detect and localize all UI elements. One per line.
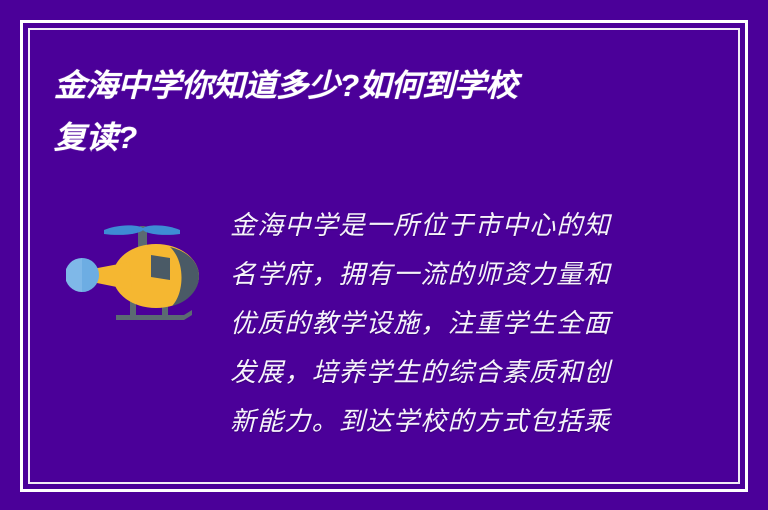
helicopter-icon (66, 214, 214, 326)
body-line-2: 名学府，拥有一流的师资力量和 (230, 251, 714, 300)
body-line-1: 金海中学是一所位于市中心的知 (230, 202, 714, 251)
body-paragraph: 金海中学是一所位于市中心的知 名学府，拥有一流的师资力量和 优质的教学设施，注重… (226, 200, 714, 447)
poster-card: 金海中学你知道多少?如何到学校 复读? (0, 0, 768, 510)
body-line-3: 优质的教学设施，注重学生全面 (230, 300, 714, 349)
page-title-line-2: 复读? (54, 112, 688, 164)
page-title: 金海中学你知道多少?如何到学校 复读? (54, 60, 664, 164)
illustration-container: 🚁 (54, 200, 226, 326)
body-line-5: 新能力。到达学校的方式包括乘 (230, 398, 714, 447)
body-line-4: 发展，培养学生的综合素质和创 (230, 349, 714, 398)
page-title-line-1: 金海中学你知道多少?如何到学校 (54, 60, 688, 112)
content-row: 🚁 金海中学是一所位于市中心的知 名学府，拥有一流的师资力量和 优质的教学设施，… (54, 200, 714, 447)
